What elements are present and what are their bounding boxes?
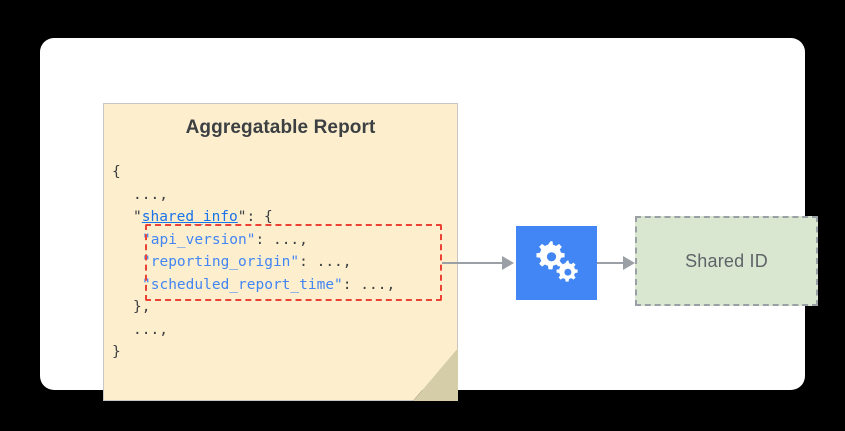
shared-id-label: Shared ID: [685, 251, 768, 272]
shared-id-node: Shared ID: [635, 216, 818, 306]
code-token: : ...,: [256, 232, 308, 248]
code-line: "reporting_origin": ...,: [112, 251, 395, 274]
code-line: "api_version": ...,: [112, 229, 395, 252]
arrow-report-to-processor: [442, 255, 516, 271]
aggregatable-report-card: Aggregatable Report {...,"shared_info": …: [103, 103, 458, 401]
report-title: Aggregatable Report: [103, 117, 458, 139]
code-line: {: [112, 161, 395, 184]
code-token: : ...,: [299, 254, 351, 270]
code-token: : ...,: [343, 277, 395, 293]
arrow-line: [442, 262, 506, 264]
code-token: ": [133, 209, 142, 225]
diagram-canvas: Aggregatable Report {...,"shared_info": …: [0, 0, 845, 431]
code-token: "reporting_origin": [142, 254, 299, 270]
code-token: ...,: [133, 322, 168, 338]
code-line: "scheduled_report_time": ...,: [112, 274, 395, 297]
arrow-head-icon: [623, 256, 635, 270]
processor-node: [516, 226, 597, 300]
shared-info-link[interactable]: shared_info: [142, 209, 238, 225]
gears-icon: [531, 238, 583, 288]
arrow-head-icon: [502, 256, 514, 270]
code-token: ...,: [133, 187, 168, 203]
diagram-card: Aggregatable Report {...,"shared_info": …: [40, 38, 805, 390]
arrow-processor-to-output: [597, 255, 637, 271]
code-token: },: [133, 299, 150, 315]
code-token: {: [112, 164, 121, 180]
report-json-code-block: {...,"shared_info": {"api_version": ...,…: [112, 161, 395, 364]
code-line: ...,: [112, 319, 395, 342]
code-line: }: [112, 341, 395, 364]
code-line: },: [112, 296, 395, 319]
code-token: }: [112, 344, 121, 360]
code-token: "api_version": [142, 232, 256, 248]
code-token: ": {: [238, 209, 273, 225]
code-line: "shared_info": {: [112, 206, 395, 229]
code-token: "scheduled_report_time": [142, 277, 343, 293]
code-line: ...,: [112, 184, 395, 207]
